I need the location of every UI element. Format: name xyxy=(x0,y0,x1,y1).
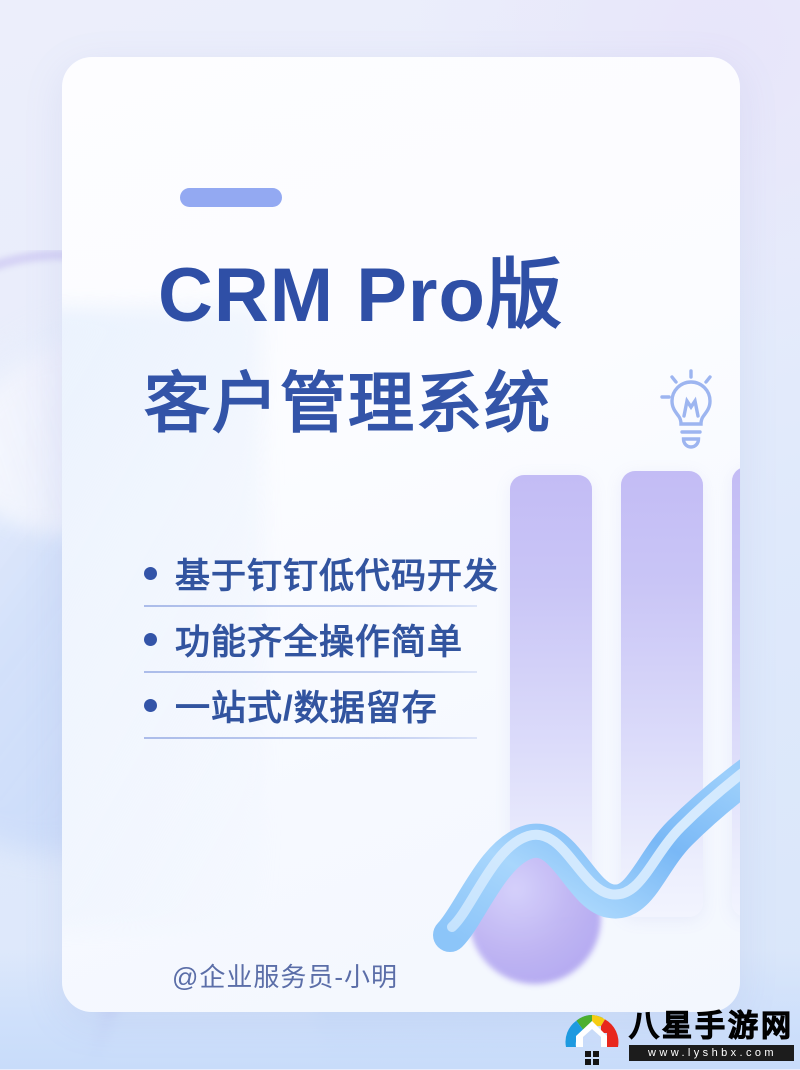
feature-label: 功能齐全操作简单 xyxy=(175,614,463,665)
watermark-site-name: 八星手游网 xyxy=(629,1012,794,1042)
badge-pill xyxy=(180,188,282,207)
bullet-dot-icon xyxy=(144,567,157,580)
feature-label: 基于钉钉低代码开发 xyxy=(175,548,499,599)
rainbow-arch-logo-icon xyxy=(563,1007,621,1065)
lightbulb-icon xyxy=(660,369,722,455)
page-subtitle: 客户管理系统 xyxy=(144,370,552,436)
watermark: 八星手游网 www.lyshbx.com xyxy=(563,1007,794,1065)
list-item: 基于钉钉低代码开发 xyxy=(144,541,489,607)
feature-label: 一站式/数据留存 xyxy=(175,680,438,731)
chart-artwork xyxy=(62,57,740,1012)
feature-list: 基于钉钉低代码开发 功能齐全操作简单 一站式/数据留存 xyxy=(144,541,489,739)
watermark-text: 八星手游网 www.lyshbx.com xyxy=(629,1012,794,1061)
poster-card: CRM Pro版 客户管理系统 基于钉钉低代码开发 功能齐全操作简单 一站式/数… xyxy=(62,57,740,1012)
author-handle: @企业服务员-小明 xyxy=(172,957,398,994)
list-divider xyxy=(144,737,477,739)
bullet-dot-icon xyxy=(144,699,157,712)
watermark-site-url: www.lyshbx.com xyxy=(629,1045,794,1061)
list-item: 一站式/数据留存 xyxy=(144,673,489,739)
list-item: 功能齐全操作简单 xyxy=(144,607,489,673)
bullet-dot-icon xyxy=(144,633,157,646)
page-title: CRM Pro版 xyxy=(158,258,563,334)
